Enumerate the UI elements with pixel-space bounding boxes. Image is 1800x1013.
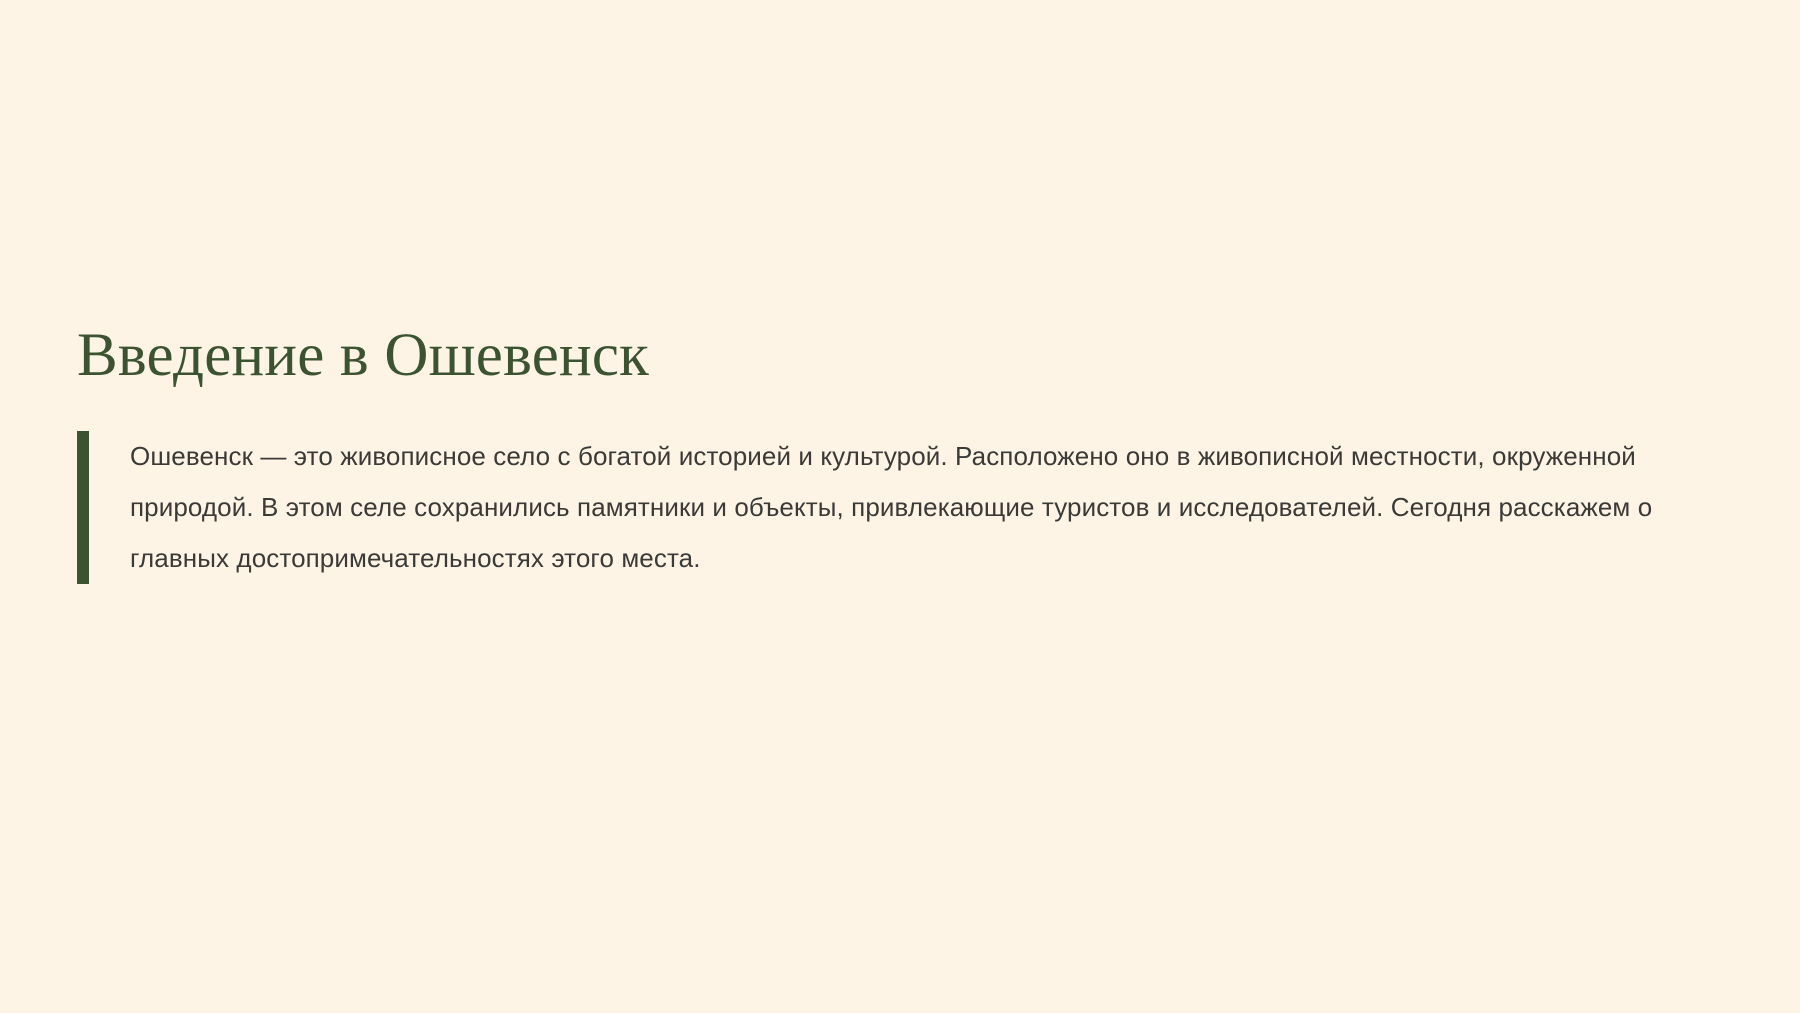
slide-canvas: Введение в Ошевенск Ошевенск — это живоп…	[0, 0, 1800, 1013]
accent-bar	[77, 431, 89, 584]
intro-paragraph: Ошевенск — это живописное село с богатой…	[130, 431, 1730, 584]
page-title: Введение в Ошевенск	[77, 322, 1737, 389]
slide-content: Введение в Ошевенск Ошевенск — это живоп…	[77, 322, 1737, 584]
intro-block: Ошевенск — это живописное село с богатой…	[77, 431, 1737, 584]
